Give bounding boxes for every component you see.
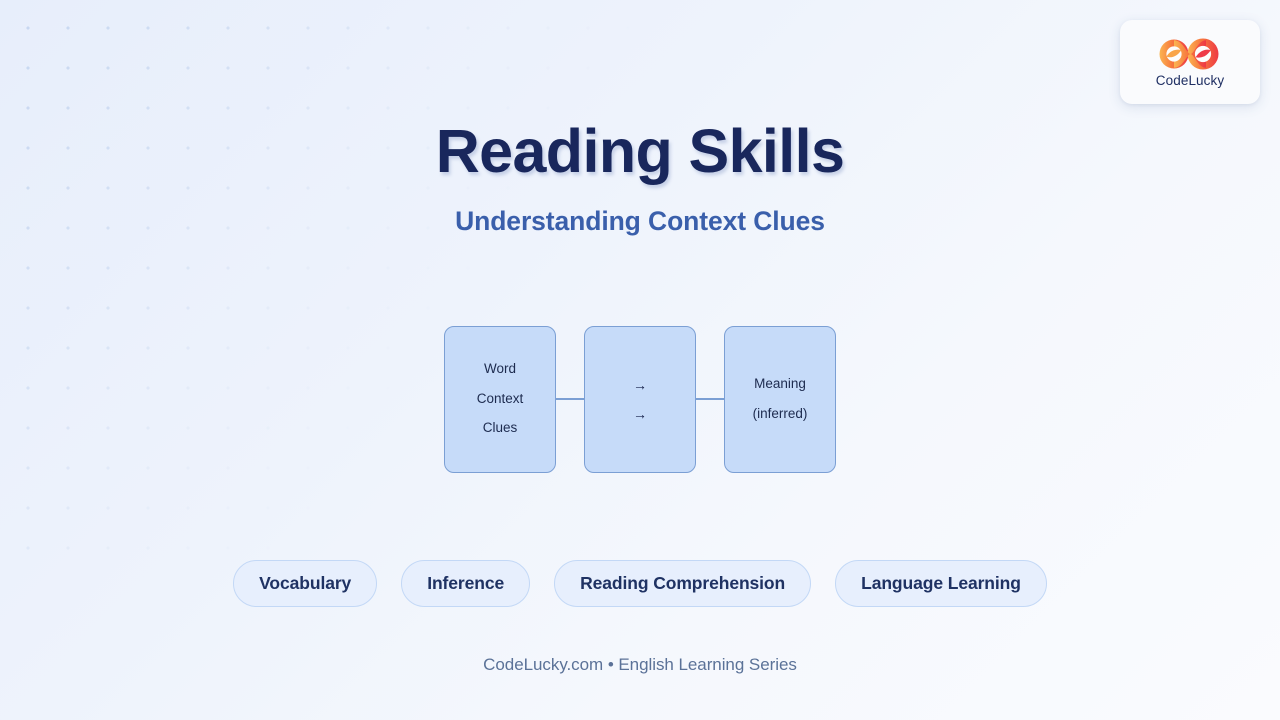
flow-box-line: Context bbox=[477, 392, 524, 407]
flow-box-line: (inferred) bbox=[753, 407, 808, 422]
tag-language-learning[interactable]: Language Learning bbox=[835, 560, 1047, 607]
arrow-right-icon: → bbox=[633, 407, 647, 421]
topic-tag-list: Vocabulary Inference Reading Comprehensi… bbox=[233, 560, 1047, 607]
tag-vocabulary[interactable]: Vocabulary bbox=[233, 560, 377, 607]
tag-inference[interactable]: Inference bbox=[401, 560, 530, 607]
flow-connector-line bbox=[696, 398, 724, 400]
tag-reading-comprehension[interactable]: Reading Comprehension bbox=[554, 560, 811, 607]
context-clues-flow-diagram: Word Context Clues → → Meaning (inferred… bbox=[444, 324, 836, 474]
flow-box-arrows: → → bbox=[584, 326, 696, 473]
flow-connector-line bbox=[556, 398, 584, 400]
arrow-right-icon: → bbox=[633, 378, 647, 392]
flow-box-line: Meaning bbox=[754, 377, 806, 392]
slide-content: Reading Skills Understanding Context Clu… bbox=[0, 0, 1280, 720]
footer-attribution: CodeLucky.com • English Learning Series bbox=[483, 655, 797, 675]
page-title: Reading Skills bbox=[436, 121, 845, 182]
flow-box-word-context-clues: Word Context Clues bbox=[444, 326, 556, 473]
flow-box-line: Clues bbox=[483, 421, 518, 436]
page-subtitle: Understanding Context Clues bbox=[455, 206, 825, 237]
flow-box-meaning-inferred: Meaning (inferred) bbox=[724, 326, 836, 473]
flow-box-line: Word bbox=[484, 362, 516, 377]
